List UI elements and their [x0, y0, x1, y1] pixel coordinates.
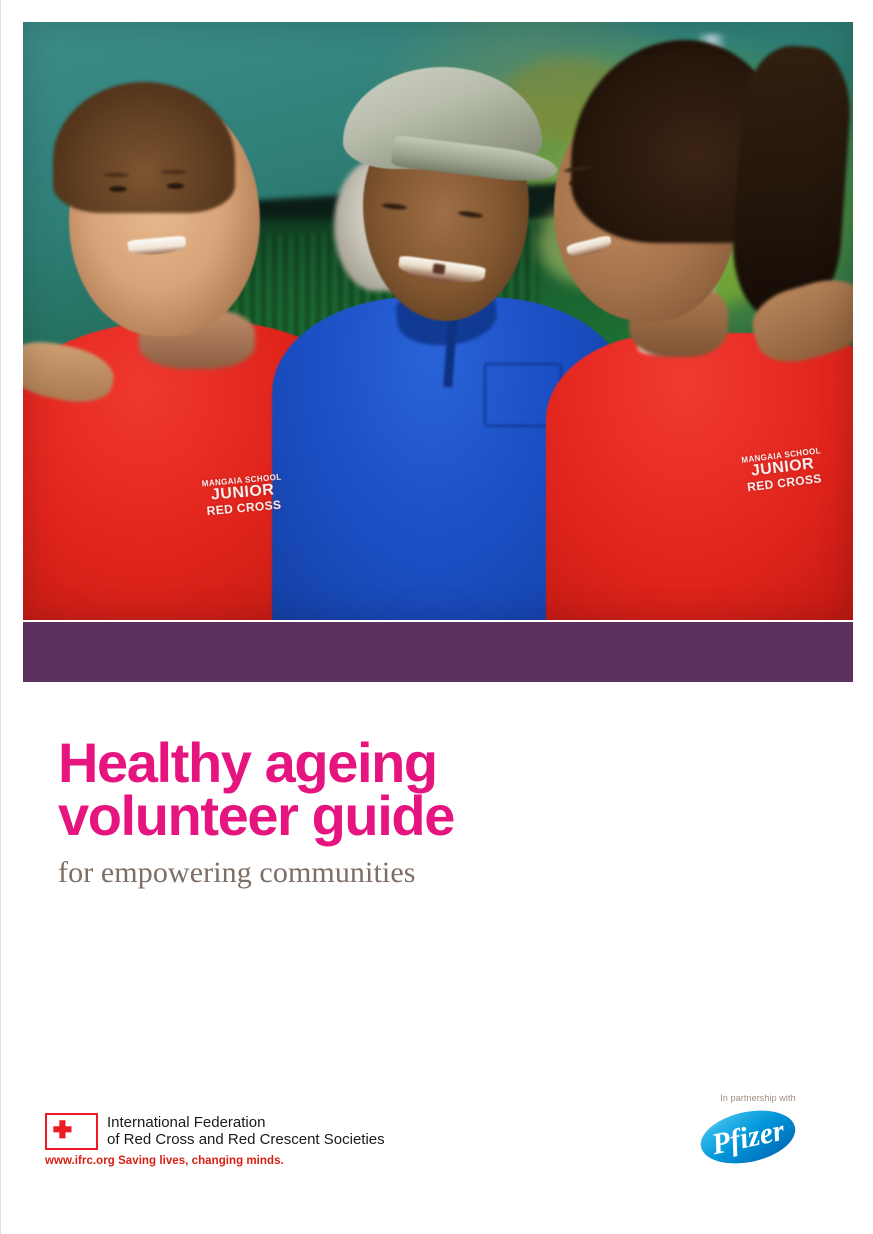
- person-left-eye-left: [109, 186, 126, 192]
- person-left-eye-right: [167, 183, 184, 189]
- svg-text:Pfizer: Pfizer: [708, 1114, 788, 1162]
- ifrc-logo: International Federation of Red Cross an…: [45, 1113, 385, 1150]
- person-center-tooth-gap: [432, 263, 445, 274]
- red-cross-red-crescent-emblem-icon: [45, 1113, 98, 1150]
- cover-photo: MANGAIA SCHOOL JUNIOR RED CROSS MANGAIA …: [23, 22, 853, 620]
- ifrc-slogan: Saving lives, changing minds.: [118, 1155, 284, 1167]
- page-title: Healthy ageing volunteer guide: [58, 736, 798, 842]
- ifrc-website[interactable]: www.ifrc.org: [45, 1155, 115, 1167]
- title-block: Healthy ageing volunteer guide for empow…: [58, 736, 798, 890]
- partner-block: In partnership with Pfizer: [698, 1093, 818, 1166]
- pfizer-logo: Pfizer: [698, 1108, 798, 1166]
- partner-label: In partnership with: [698, 1093, 818, 1103]
- ifrc-tagline: www.ifrc.org Saving lives, changing mind…: [45, 1155, 284, 1167]
- ifrc-wordmark: International Federation of Red Cross an…: [107, 1113, 385, 1148]
- page-subtitle: for empowering communities: [58, 856, 798, 890]
- cover-page: MANGAIA SCHOOL JUNIOR RED CROSS MANGAIA …: [0, 0, 873, 1234]
- ifrc-organisation-name: International Federation of Red Cross an…: [107, 1114, 385, 1148]
- purple-accent-band: [23, 622, 853, 682]
